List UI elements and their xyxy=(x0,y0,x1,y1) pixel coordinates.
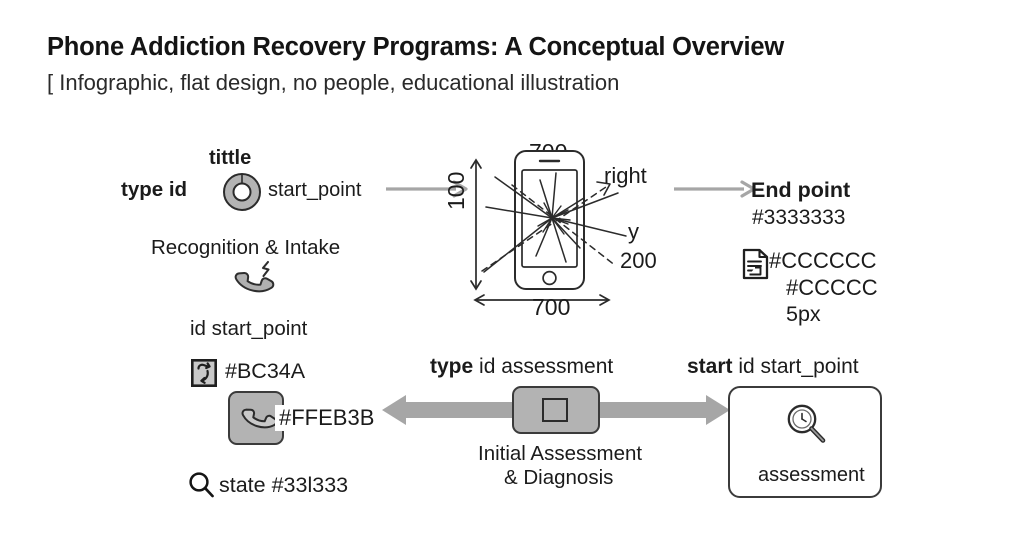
page-subtitle: [ Infographic, flat design, no people, e… xyxy=(47,70,619,96)
id-start-point-label: id start_point xyxy=(190,317,307,341)
search-icon xyxy=(188,471,215,498)
assessment-card-label: assessment xyxy=(758,464,865,487)
start-id-heading-rest: id start_point xyxy=(733,355,859,378)
document-icon xyxy=(741,248,771,281)
infographic-canvas: Phone Addiction Recovery Programs: A Con… xyxy=(0,0,1024,559)
swatch-value-bc34a: #BC34A xyxy=(225,359,305,384)
assessment-caption-line1: Initial Assessment xyxy=(478,442,642,466)
dimension-bottom-label: 700 xyxy=(532,294,570,321)
y-value-label: 200 xyxy=(620,248,657,274)
arrow-bar-right xyxy=(600,393,732,427)
square-outline-icon xyxy=(542,398,568,422)
swatch-value-state: state #33l333 xyxy=(219,473,348,498)
stroke-width-label: 5px xyxy=(786,302,821,327)
page-title: Phone Addiction Recovery Programs: A Con… xyxy=(47,33,784,62)
assessment-heading-rest: id assessment xyxy=(473,355,613,378)
y-callout-label: y xyxy=(628,219,639,245)
start-point-label: start_point xyxy=(268,179,361,202)
magnifier-clock-icon xyxy=(784,402,828,446)
arrow-center-to-right xyxy=(674,176,758,202)
end-point-hex: #3333333 xyxy=(752,206,845,230)
swatch-value-ffeb3b: #FFEB3B xyxy=(275,405,377,431)
phone-ring-icon xyxy=(228,255,284,310)
start-id-heading-bold: start xyxy=(687,355,733,378)
start-id-heading: start id start_point xyxy=(687,355,859,379)
refresh-box-icon xyxy=(191,359,217,387)
assessment-caption-line2: & Diagnosis xyxy=(504,466,613,490)
doc-hex-2: #CCCCC xyxy=(786,275,878,301)
doc-hex-1: #CCCCCC xyxy=(769,248,877,274)
assessment-heading-bold: type xyxy=(430,355,473,378)
right-callout-label: right xyxy=(604,163,647,189)
phone-icon xyxy=(238,400,276,436)
tittle-label: tittle xyxy=(209,147,251,170)
type-id-label: type id xyxy=(121,178,187,202)
donut-ring-icon xyxy=(222,172,262,212)
end-point-title: End point xyxy=(751,178,850,203)
assessment-heading: type id assessment xyxy=(430,355,613,379)
